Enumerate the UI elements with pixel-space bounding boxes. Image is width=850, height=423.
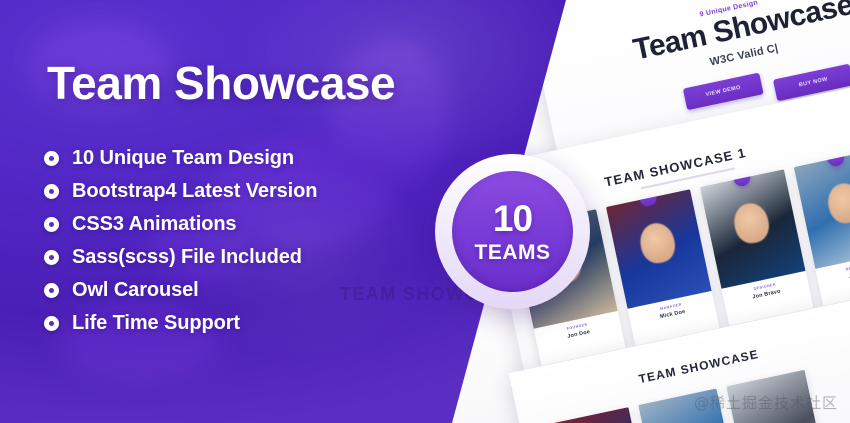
member-photo	[794, 149, 850, 269]
bullet-circle-icon	[44, 151, 59, 166]
member-photo	[606, 189, 712, 309]
feature-item: Life Time Support	[44, 307, 317, 340]
feature-label: CSS3 Animations	[72, 213, 236, 236]
feature-list: 10 Unique Team Design Bootstrap4 Latest …	[44, 142, 317, 340]
mockup-view-demo-button[interactable]: VIEW DEMO	[683, 73, 764, 111]
bullet-circle-icon	[44, 283, 59, 298]
feature-item: Bootstrap4 Latest Version	[44, 175, 317, 208]
teams-count-label: TEAMS	[475, 242, 551, 263]
feature-item: CSS3 Animations	[44, 208, 317, 241]
member-face	[637, 220, 679, 266]
mockup-bottom-section-title: TEAM SHOWCASE	[637, 347, 760, 386]
feature-item: Sass(scss) File Included	[44, 241, 317, 274]
bullet-circle-icon	[44, 250, 59, 265]
teams-count-badge: 10 TEAMS	[435, 154, 590, 309]
member-face	[731, 200, 773, 246]
teams-count-number: 10	[493, 200, 532, 237]
team-member-card[interactable]: DESIGNER Jon Bravo	[700, 169, 814, 326]
team-member-card[interactable]: MANAGER Mick Doe	[606, 189, 720, 346]
site-watermark: @稀土掘金技术社区	[694, 392, 838, 413]
feature-label: Sass(scss) File Included	[72, 246, 302, 269]
bullet-circle-icon	[44, 217, 59, 232]
feature-label: Life Time Support	[72, 312, 240, 335]
team-member-card[interactable]	[550, 407, 648, 423]
team-showcase-banner: 9 Unique Design Team Showcase W3C Valid …	[0, 0, 850, 423]
feature-label: Owl Carousel	[72, 279, 199, 302]
bullet-circle-icon	[44, 316, 59, 331]
feature-item: Owl Carousel	[44, 274, 317, 307]
member-photo	[700, 169, 806, 289]
feature-item: 10 Unique Team Design	[44, 142, 317, 175]
member-photo	[550, 407, 648, 423]
feature-label: 10 Unique Team Design	[72, 147, 294, 170]
bullet-circle-icon	[44, 184, 59, 199]
page-title: Team Showcase	[47, 60, 395, 106]
member-face	[825, 180, 850, 226]
teams-count-badge-inner: 10 TEAMS	[452, 171, 573, 292]
feature-label: Bootstrap4 Latest Version	[72, 180, 317, 203]
